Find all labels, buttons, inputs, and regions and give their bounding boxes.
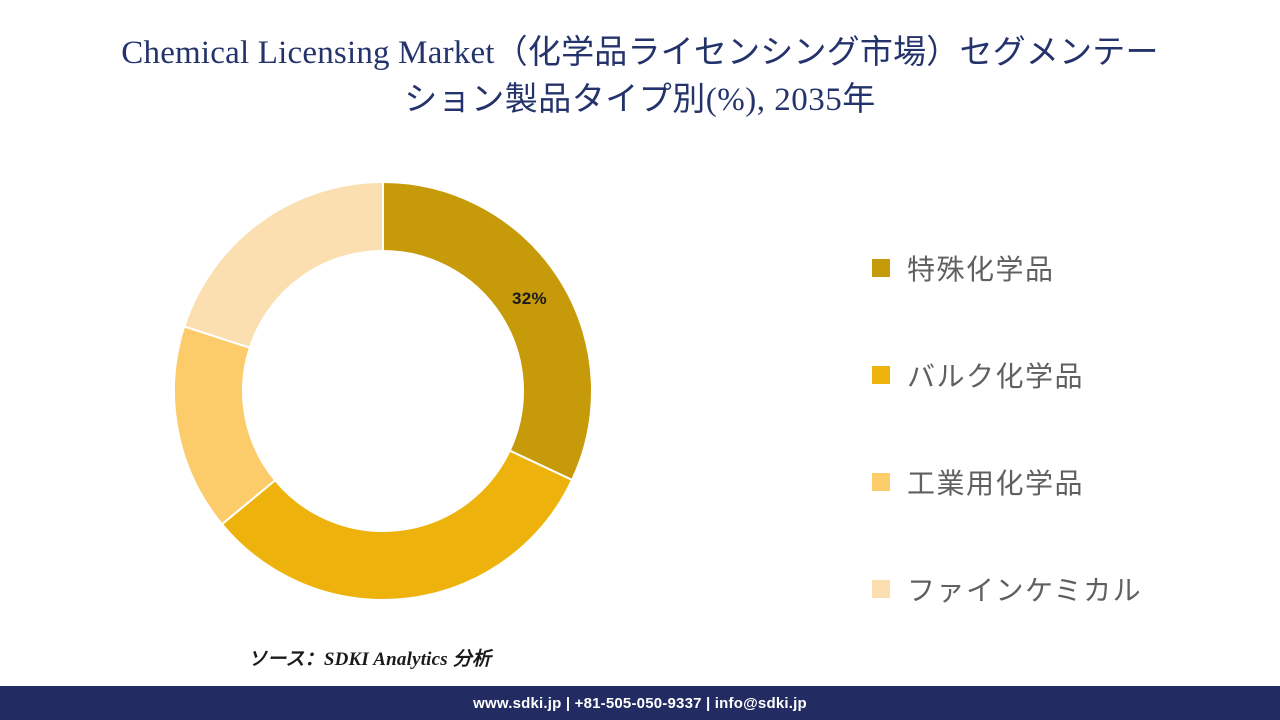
donut-chart: 32% <box>140 150 640 640</box>
legend-label-1: バルク化学品 <box>907 355 1084 395</box>
legend-item-3[interactable]: ファインケミカル <box>872 535 1252 642</box>
slide-canvas: Chemical Licensing Market（化学品ライセンシング市場）セ… <box>0 0 1280 720</box>
legend-swatch-icon-1 <box>872 366 890 384</box>
chart-legend: 特殊化学品 バルク化学品 工業用化学品 ファインケミカル <box>872 214 1252 642</box>
page-title-line-1: Chemical Licensing Market（化学品ライセンシング市場）セ… <box>50 30 1230 77</box>
legend-label-2: 工業用化学品 <box>907 462 1084 502</box>
donut-chart-svg <box>140 150 640 640</box>
slice-value-label: 32% <box>512 289 547 309</box>
footer-bar: www.sdki.jp | +81-505-050-9337 | info@sd… <box>0 686 1280 720</box>
legend-label-0: 特殊化学品 <box>907 248 1055 288</box>
footer-contact-text: www.sdki.jp | +81-505-050-9337 | info@sd… <box>473 695 807 712</box>
page-title: Chemical Licensing Market（化学品ライセンシング市場）セ… <box>50 30 1230 124</box>
donut-slice-3[interactable] <box>184 182 383 348</box>
legend-item-2[interactable]: 工業用化学品 <box>872 428 1252 535</box>
donut-slice-1[interactable] <box>222 451 572 600</box>
donut-slice-0[interactable] <box>383 182 592 480</box>
legend-swatch-icon-0 <box>872 259 890 277</box>
legend-swatch-icon-2 <box>872 473 890 491</box>
donut-slice-group <box>174 182 592 600</box>
legend-item-1[interactable]: バルク化学品 <box>872 321 1252 428</box>
legend-label-3: ファインケミカル <box>907 569 1142 609</box>
source-note: ソース：SDKI Analytics 分析 <box>248 644 491 671</box>
page-title-line-2: ション製品タイプ別(%), 2035年 <box>50 77 1230 124</box>
legend-swatch-icon-3 <box>872 580 890 598</box>
legend-item-0[interactable]: 特殊化学品 <box>872 214 1252 321</box>
